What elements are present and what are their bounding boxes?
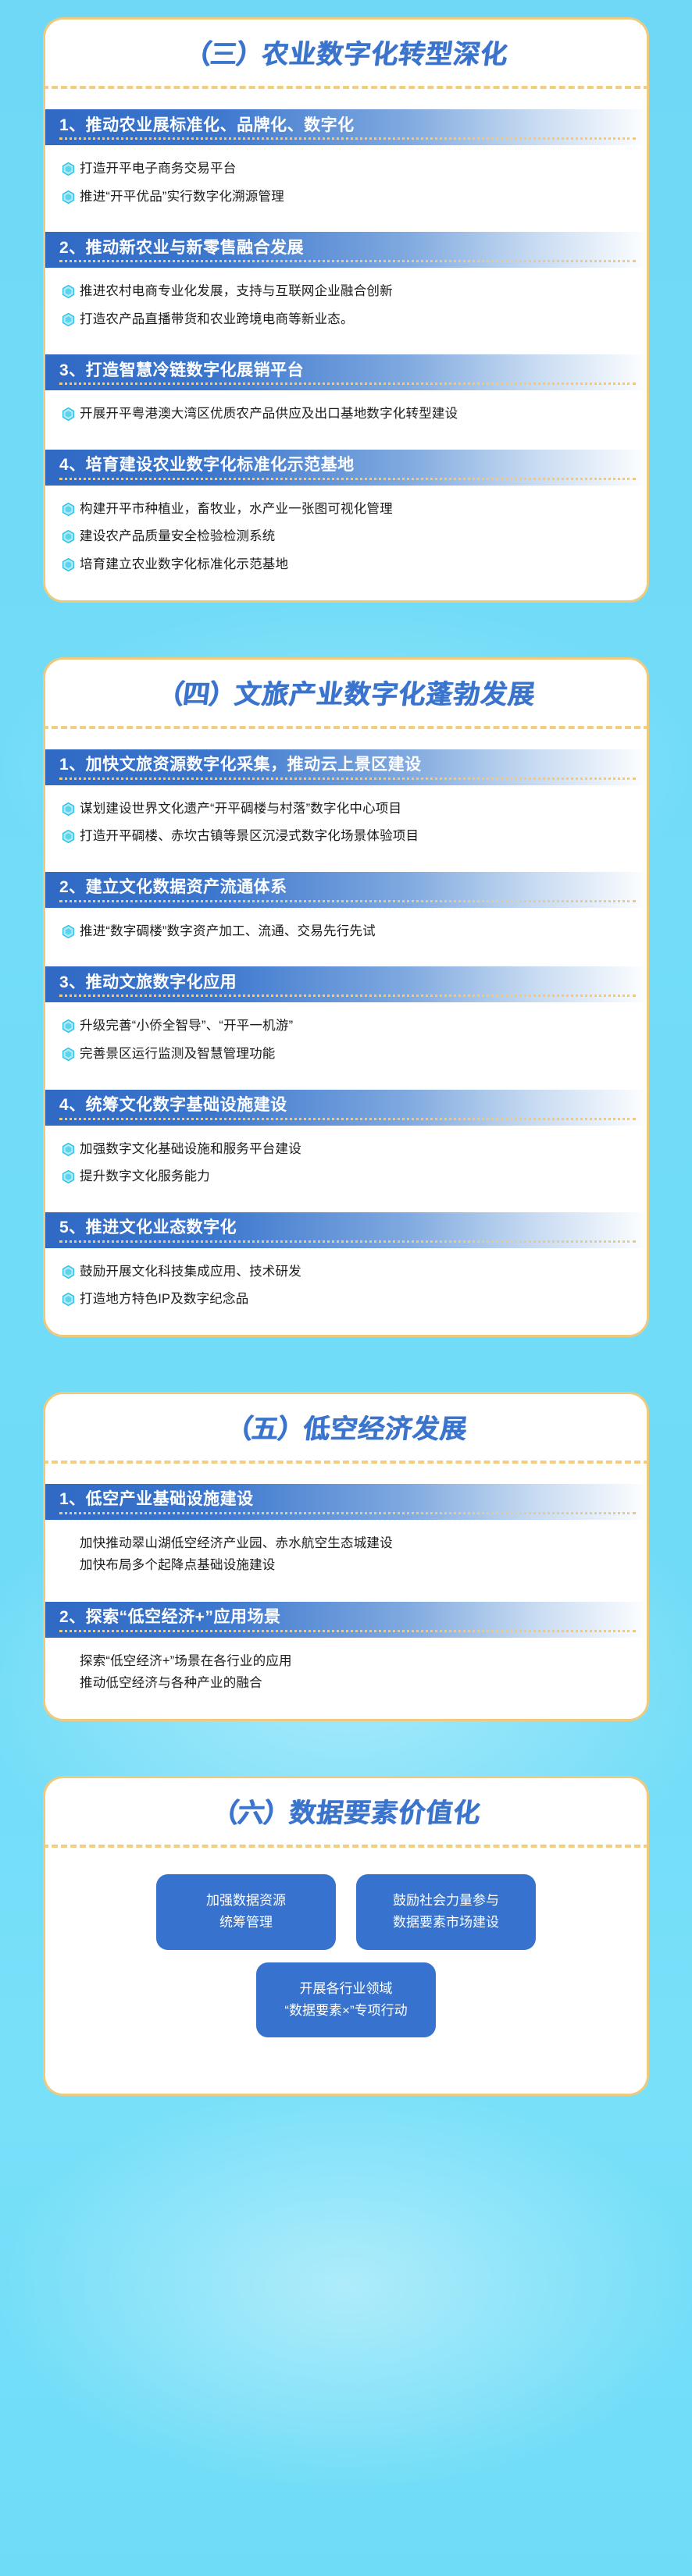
- pill-line: 鼓励社会力量参与: [367, 1890, 525, 1912]
- card-spacer: [0, 1721, 692, 1776]
- list-item-label: 打造地方特色IP及数字纪念品: [80, 1290, 248, 1310]
- section-3-group-4-header: 4、培育建设农业数字化标准化示范基地: [45, 450, 647, 486]
- section-6-pill-row-2: 开展各行业领域“数据要素×”专项行动: [45, 1950, 647, 2037]
- section-4-group-2-header: 2、建立文化数据资产流通体系: [45, 872, 647, 908]
- section-4-title-text: 文旅产业数字化蓬勃发展: [233, 680, 537, 710]
- list-item-label: 鼓励开展文化科技集成应用、技术研发: [80, 1262, 301, 1283]
- section-3-group-1-label: 1、推动农业展标准化、品牌化、数字化: [59, 117, 355, 133]
- section-4-group-3-label: 3、推动文旅数字化应用: [59, 974, 237, 991]
- section-3-group-2-header: 2、推动新农业与新零售融合发展: [45, 232, 647, 268]
- text-line: 推动低空经济与各种产业的融合: [80, 1672, 626, 1694]
- list-item: 提升数字文化服务能力: [62, 1167, 626, 1187]
- pill-line: 数据要素市场建设: [367, 1912, 525, 1934]
- section-4-title: （四）文旅产业数字化蓬勃发展: [155, 680, 537, 710]
- list-item: 建设农产品质量安全检验检测系统: [62, 527, 626, 547]
- section-6-title: （六）数据要素价值化: [210, 1799, 483, 1829]
- list-item-label: 培育建立农业数字化标准化示范基地: [80, 555, 288, 575]
- list-item-label: 推进“开平优品”实行数字化溯源管理: [80, 187, 284, 208]
- section-6-title-text: 数据要素价值化: [287, 1799, 483, 1828]
- section-4-group-4-header: 4、统筹文化数字基础设施建设: [45, 1090, 647, 1126]
- pill-line: 加强数据资源: [167, 1890, 325, 1912]
- diamond-bullet-icon: [62, 925, 74, 938]
- list-item: 升级完善“小侨全智导”、“开平一机游”: [62, 1016, 626, 1037]
- card-section-5: （五）低空经济发展1、低空产业基础设施建设加快推动翠山湖低空经济产业园、赤水航空…: [43, 1392, 649, 1722]
- section-5-dashed-divider: [43, 1461, 649, 1464]
- section-4-number: （四）: [155, 680, 237, 710]
- infographic-root: （三）农业数字化转型深化1、推动农业展标准化、品牌化、数字化打造开平电子商务交易…: [0, 0, 692, 2133]
- diamond-bullet-icon: [62, 1048, 74, 1061]
- list-item-label: 建设农产品质量安全检验检测系统: [80, 527, 276, 547]
- section-5-title: （五）低空经济发展: [223, 1414, 469, 1445]
- pill-bottom-spacer: [45, 2037, 647, 2073]
- section-4-group-1-label: 1、加快文旅资源数字化采集，推动云上景区建设: [59, 756, 422, 773]
- pill-line: 统筹管理: [167, 1912, 325, 1934]
- section-3-title-text: 农业数字化转型深化: [260, 40, 510, 69]
- list-item-label: 开展开平粤港澳大湾区优质农产品供应及出口基地数字化转型建设: [80, 404, 458, 425]
- diamond-bullet-icon: [62, 162, 74, 176]
- section-5-group-1-label: 1、低空产业基础设施建设: [59, 1491, 254, 1507]
- section-5-group-2-header: 2、探索“低空经济+”应用场景: [45, 1602, 647, 1638]
- list-item-label: 完善景区运行监测及智慧管理功能: [80, 1044, 276, 1065]
- pill-line: 开展各行业领域: [267, 1978, 425, 2000]
- pill-line: “数据要素×”专项行动: [267, 2000, 425, 2022]
- diamond-bullet-icon: [62, 1143, 74, 1156]
- section-5-group-1-lines: 加快推动翠山湖低空经济产业园、赤水航空生态城建设加快布局多个起降点基础设施建设: [45, 1520, 647, 1582]
- list-item-label: 加强数字文化基础设施和服务平台建设: [80, 1140, 301, 1160]
- diamond-bullet-icon: [62, 1265, 74, 1279]
- section-3-number: （三）: [183, 40, 264, 69]
- list-item: 加强数字文化基础设施和服务平台建设: [62, 1140, 626, 1160]
- section-4-group-1-bullets: 谋划建设世界文化遗产“开平碉楼与村落”数字化中心项目打造开平碉楼、赤坎古镇等景区…: [45, 785, 647, 852]
- section-3-group-1-bullets: 打造开平电子商务交易平台推进“开平优品”实行数字化溯源管理: [45, 145, 647, 212]
- section-5-group-1-header: 1、低空产业基础设施建设: [45, 1484, 647, 1520]
- section-4-title-wrap: （四）文旅产业数字化蓬勃发展: [45, 660, 647, 723]
- section-4-group-3-bullets: 升级完善“小侨全智导”、“开平一机游”完善景区运行监测及智慧管理功能: [45, 1002, 647, 1069]
- list-item: 打造农产品直播带货和农业跨境电商等新业态。: [62, 310, 626, 330]
- list-item-label: 打造开平电子商务交易平台: [80, 159, 236, 180]
- list-item: 推进“开平优品”实行数字化溯源管理: [62, 187, 626, 208]
- diamond-bullet-icon: [62, 407, 74, 421]
- section-3-group-3-header: 3、打造智慧冷链数字化展销平台: [45, 354, 647, 390]
- section-4-group-2-bullets: 推进“数字碉楼”数字资产加工、流通、交易先行先试: [45, 908, 647, 947]
- diamond-bullet-icon: [62, 558, 74, 571]
- section-4-group-3-header: 3、推动文旅数字化应用: [45, 966, 647, 1002]
- list-item-label: 推进“数字碉楼”数字资产加工、流通、交易先行先试: [80, 922, 376, 942]
- list-item-label: 打造开平碉楼、赤坎古镇等景区沉浸式数字化场景体验项目: [80, 827, 419, 847]
- section-3-group-1-header: 1、推动农业展标准化、品牌化、数字化: [45, 109, 647, 145]
- text-line: 加快布局多个起降点基础设施建设: [80, 1554, 626, 1576]
- diamond-bullet-icon: [62, 190, 74, 204]
- list-item-label: 谋划建设世界文化遗产“开平碉楼与村落”数字化中心项目: [80, 799, 401, 820]
- list-item-label: 打造农产品直播带货和农业跨境电商等新业态。: [80, 310, 354, 330]
- list-item: 完善景区运行监测及智慧管理功能: [62, 1044, 626, 1065]
- list-item: 打造开平电子商务交易平台: [62, 159, 626, 180]
- section-6-pill-row-1: 加强数据资源统筹管理鼓励社会力量参与数据要素市场建设: [45, 1848, 647, 1949]
- list-item: 打造开平碉楼、赤坎古镇等景区沉浸式数字化场景体验项目: [62, 827, 626, 847]
- data-action-pill[interactable]: 开展各行业领域“数据要素×”专项行动: [256, 1962, 436, 2037]
- list-item: 构建开平市种植业，畜牧业，水产业一张图可视化管理: [62, 500, 626, 520]
- card-spacer: [0, 1337, 692, 1392]
- diamond-bullet-icon: [62, 530, 74, 543]
- section-5-title-wrap: （五）低空经济发展: [45, 1394, 647, 1457]
- section-4-group-1-header: 1、加快文旅资源数字化采集，推动云上景区建设: [45, 749, 647, 785]
- text-line: 探索“低空经济+”场景在各行业的应用: [80, 1650, 626, 1672]
- list-item: 推进“数字碉楼”数字资产加工、流通、交易先行先试: [62, 922, 626, 942]
- section-4-group-5-header: 5、推进文化业态数字化: [45, 1212, 647, 1248]
- section-3-group-3-label: 3、打造智慧冷链数字化展销平台: [59, 362, 304, 379]
- card-spacer: [0, 603, 692, 657]
- section-3-group-3-bullets: 开展开平粤港澳大湾区优质农产品供应及出口基地数字化转型建设: [45, 390, 647, 429]
- data-action-pill[interactable]: 加强数据资源统筹管理: [156, 1874, 336, 1949]
- bottom-spacer: [0, 2096, 692, 2133]
- section-5-number: （五）: [223, 1414, 305, 1444]
- section-3-dashed-divider: [43, 86, 649, 89]
- section-3-title-wrap: （三）农业数字化转型深化: [45, 20, 647, 83]
- list-item-label: 升级完善“小侨全智导”、“开平一机游”: [80, 1016, 293, 1037]
- list-item-label: 推进农村电商专业化发展，支持与互联网企业融合创新: [80, 282, 393, 302]
- section-3-group-4-label: 4、培育建设农业数字化标准化示范基地: [59, 457, 355, 473]
- diamond-bullet-icon: [62, 503, 74, 516]
- section-6-title-wrap: （六）数据要素价值化: [45, 1778, 647, 1841]
- diamond-bullet-icon: [62, 830, 74, 843]
- text-line: 加快推动翠山湖低空经济产业园、赤水航空生态城建设: [80, 1532, 626, 1554]
- card-section-4: （四）文旅产业数字化蓬勃发展1、加快文旅资源数字化采集，推动云上景区建设谋划建设…: [43, 657, 649, 1337]
- list-item: 推进农村电商专业化发展，支持与互联网企业融合创新: [62, 282, 626, 302]
- diamond-bullet-icon: [62, 1293, 74, 1306]
- list-item: 培育建立农业数字化标准化示范基地: [62, 555, 626, 575]
- section-5-title-text: 低空经济发展: [301, 1414, 469, 1444]
- section-3-title: （三）农业数字化转型深化: [183, 40, 510, 70]
- section-3-group-4-bullets: 构建开平市种植业，畜牧业，水产业一张图可视化管理建设农产品质量安全检验检测系统培…: [45, 486, 647, 580]
- list-item: 鼓励开展文化科技集成应用、技术研发: [62, 1262, 626, 1283]
- diamond-bullet-icon: [62, 285, 74, 298]
- section-4-group-5-label: 5、推进文化业态数字化: [59, 1219, 237, 1236]
- section-3-group-2-label: 2、推动新农业与新零售融合发展: [59, 240, 304, 256]
- list-item: 谋划建设世界文化遗产“开平碉楼与村落”数字化中心项目: [62, 799, 626, 820]
- card-section-3: （三）农业数字化转型深化1、推动农业展标准化、品牌化、数字化打造开平电子商务交易…: [43, 17, 649, 603]
- card-section-6: （六）数据要素价值化加强数据资源统筹管理鼓励社会力量参与数据要素市场建设开展各行…: [43, 1776, 649, 2095]
- list-item-label: 提升数字文化服务能力: [80, 1167, 210, 1187]
- data-action-pill[interactable]: 鼓励社会力量参与数据要素市场建设: [356, 1874, 536, 1949]
- section-4-group-4-bullets: 加强数字文化基础设施和服务平台建设提升数字文化服务能力: [45, 1126, 647, 1192]
- section-4-dashed-divider: [43, 726, 649, 729]
- section-4-group-5-bullets: 鼓励开展文化科技集成应用、技术研发打造地方特色IP及数字纪念品: [45, 1248, 647, 1315]
- list-item: 开展开平粤港澳大湾区优质农产品供应及出口基地数字化转型建设: [62, 404, 626, 425]
- section-6-number: （六）: [210, 1799, 291, 1828]
- diamond-bullet-icon: [62, 1019, 74, 1033]
- section-3-group-2-bullets: 推进农村电商专业化发展，支持与互联网企业融合创新打造农产品直播带货和农业跨境电商…: [45, 268, 647, 334]
- list-item: 打造地方特色IP及数字纪念品: [62, 1290, 626, 1310]
- diamond-bullet-icon: [62, 802, 74, 816]
- section-4-group-2-label: 2、建立文化数据资产流通体系: [59, 879, 287, 895]
- diamond-bullet-icon: [62, 1170, 74, 1183]
- list-item-label: 构建开平市种植业，畜牧业，水产业一张图可视化管理: [80, 500, 393, 520]
- section-5-group-2-label: 2、探索“低空经济+”应用场景: [59, 1609, 280, 1625]
- diamond-bullet-icon: [62, 313, 74, 326]
- section-5-group-2-lines: 探索“低空经济+”场景在各行业的应用推动低空经济与各种产业的融合: [45, 1638, 647, 1699]
- section-4-group-4-label: 4、统筹文化数字基础设施建设: [59, 1097, 287, 1113]
